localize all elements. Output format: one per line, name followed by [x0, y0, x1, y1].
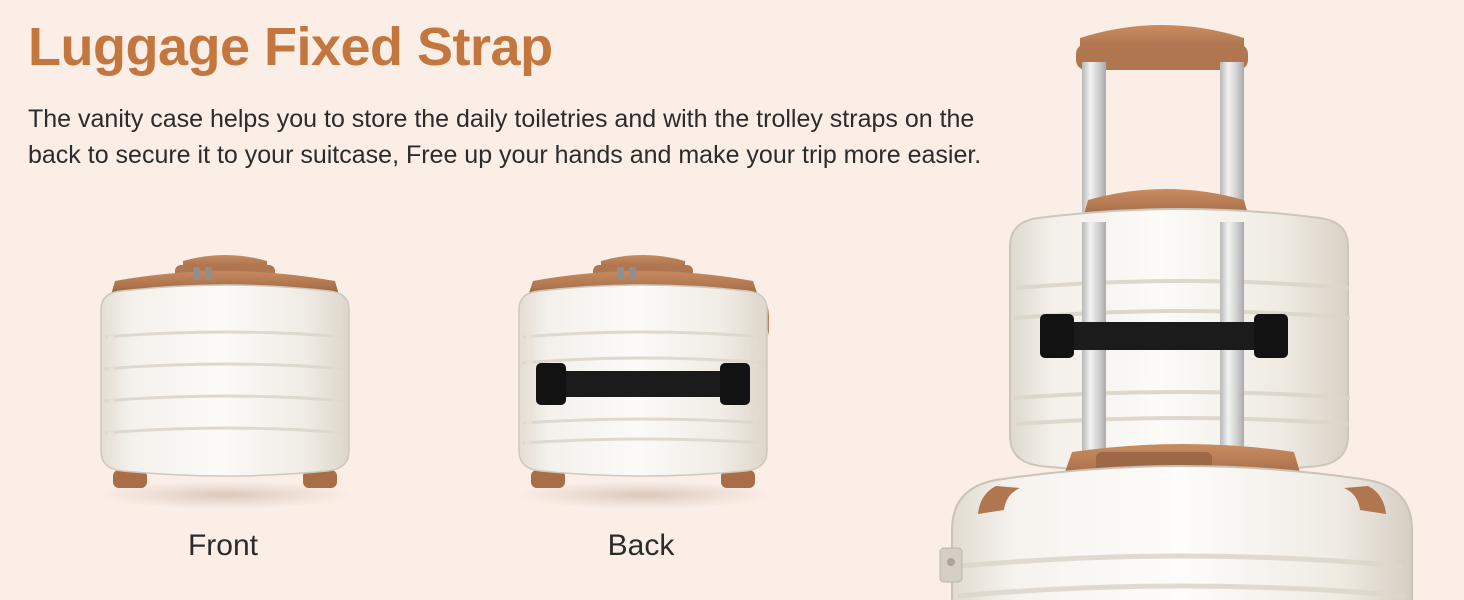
trolley-strap: [536, 371, 750, 397]
strap-anchor-left-photo: [1040, 314, 1074, 358]
zipper-pull-icon: [205, 267, 212, 280]
vanity-case-back-image: [493, 245, 793, 510]
lifestyle-photo-case-on-suitcase: [900, 0, 1464, 600]
case-on-suitcase-svg: [900, 0, 1464, 600]
caption-back: Back: [521, 529, 761, 563]
lock-dial-icon: [947, 558, 955, 566]
zipper-pull-icon: [629, 267, 636, 280]
strap-anchor-right: [720, 363, 750, 405]
shell-edge-highlight: [527, 305, 530, 457]
vanity-case-front-svg: [75, 245, 375, 510]
zipper-pull-icon: [193, 267, 200, 280]
description-text: The vanity case helps you to store the d…: [28, 101, 1003, 173]
strap-anchor-left: [536, 363, 566, 405]
strap-anchor-right-photo: [1254, 314, 1288, 358]
caption-front: Front: [103, 529, 343, 563]
shell-edge-highlight: [754, 305, 757, 457]
suitcase-shell: [952, 466, 1412, 600]
case-shell: [101, 285, 349, 476]
vanity-case-front-image: [75, 245, 375, 510]
vanity-case-back-svg: [493, 245, 793, 510]
page-title: Luggage Fixed Strap: [28, 16, 553, 78]
trolley-strap-photo: [1040, 322, 1288, 350]
zipper-pull-icon: [617, 267, 624, 280]
shell-edge-highlight: [336, 305, 339, 457]
product-feature-banner: Luggage Fixed Strap The vanity case help…: [0, 0, 1464, 600]
shell-edge-highlight: [109, 305, 112, 457]
